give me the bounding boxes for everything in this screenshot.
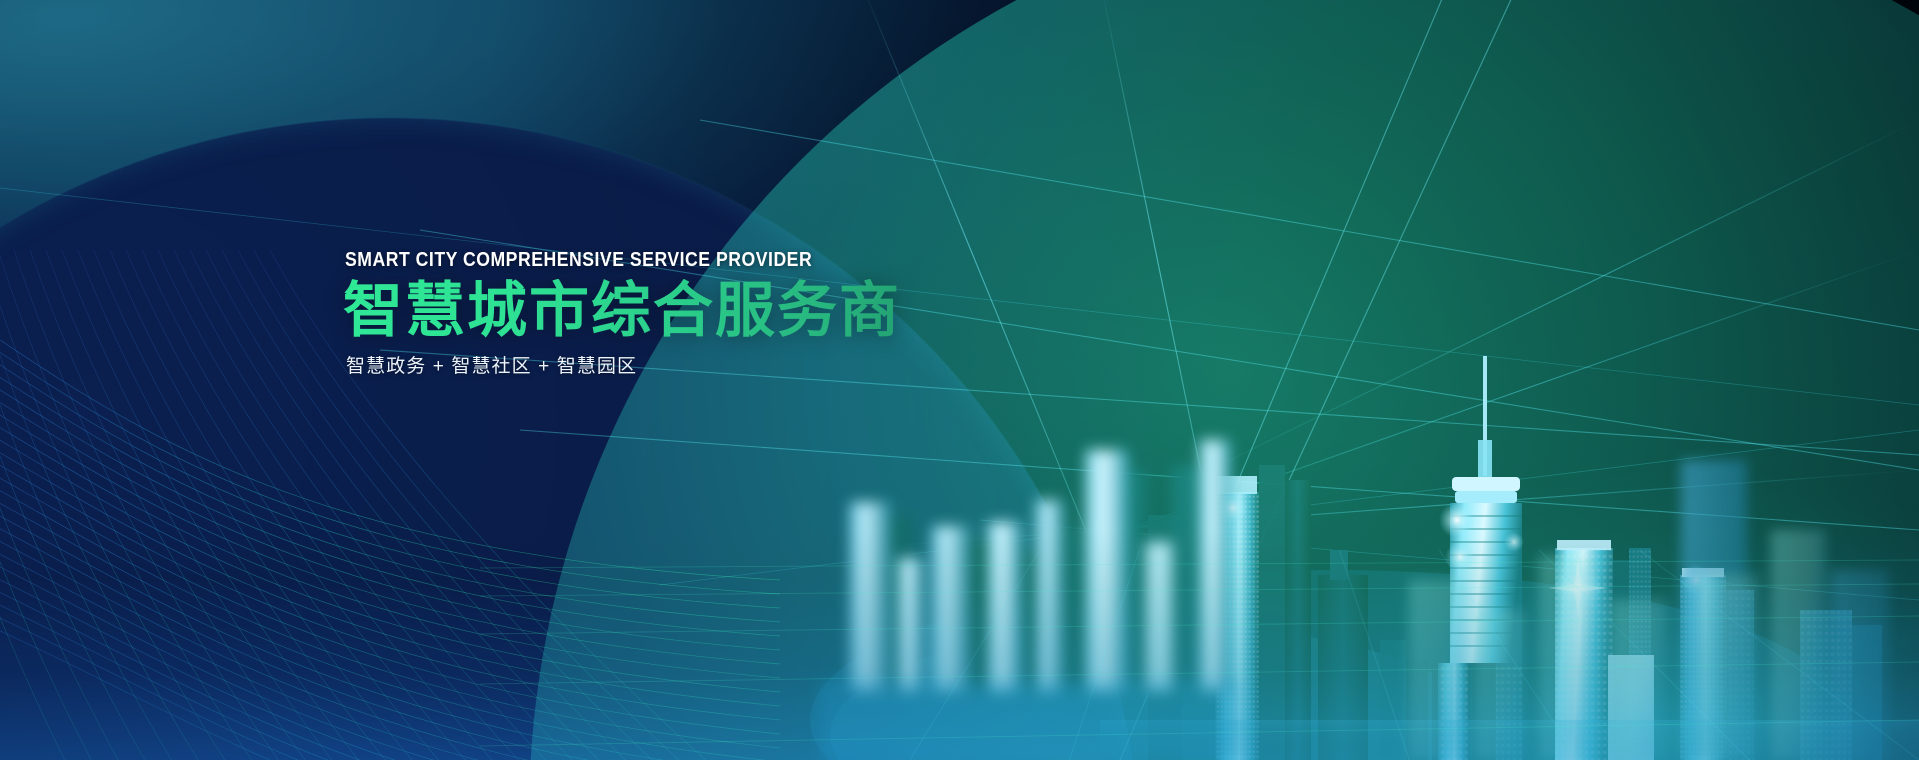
subtitle-text: 智慧政务 + 智慧社区 + 智慧园区 xyxy=(346,357,1103,376)
page-title: 智慧城市综合服务商 xyxy=(343,279,1103,344)
eyebrow-text: SMART CITY COMPREHENSIVE SERVICE PROVIDE… xyxy=(345,250,997,271)
smart-city-hero-banner: SMART CITY COMPREHENSIVE SERVICE PROVIDE… xyxy=(0,0,1919,760)
green-bottom-glow xyxy=(1159,380,1919,760)
hero-copy-block: SMART CITY COMPREHENSIVE SERVICE PROVIDE… xyxy=(343,250,1103,376)
